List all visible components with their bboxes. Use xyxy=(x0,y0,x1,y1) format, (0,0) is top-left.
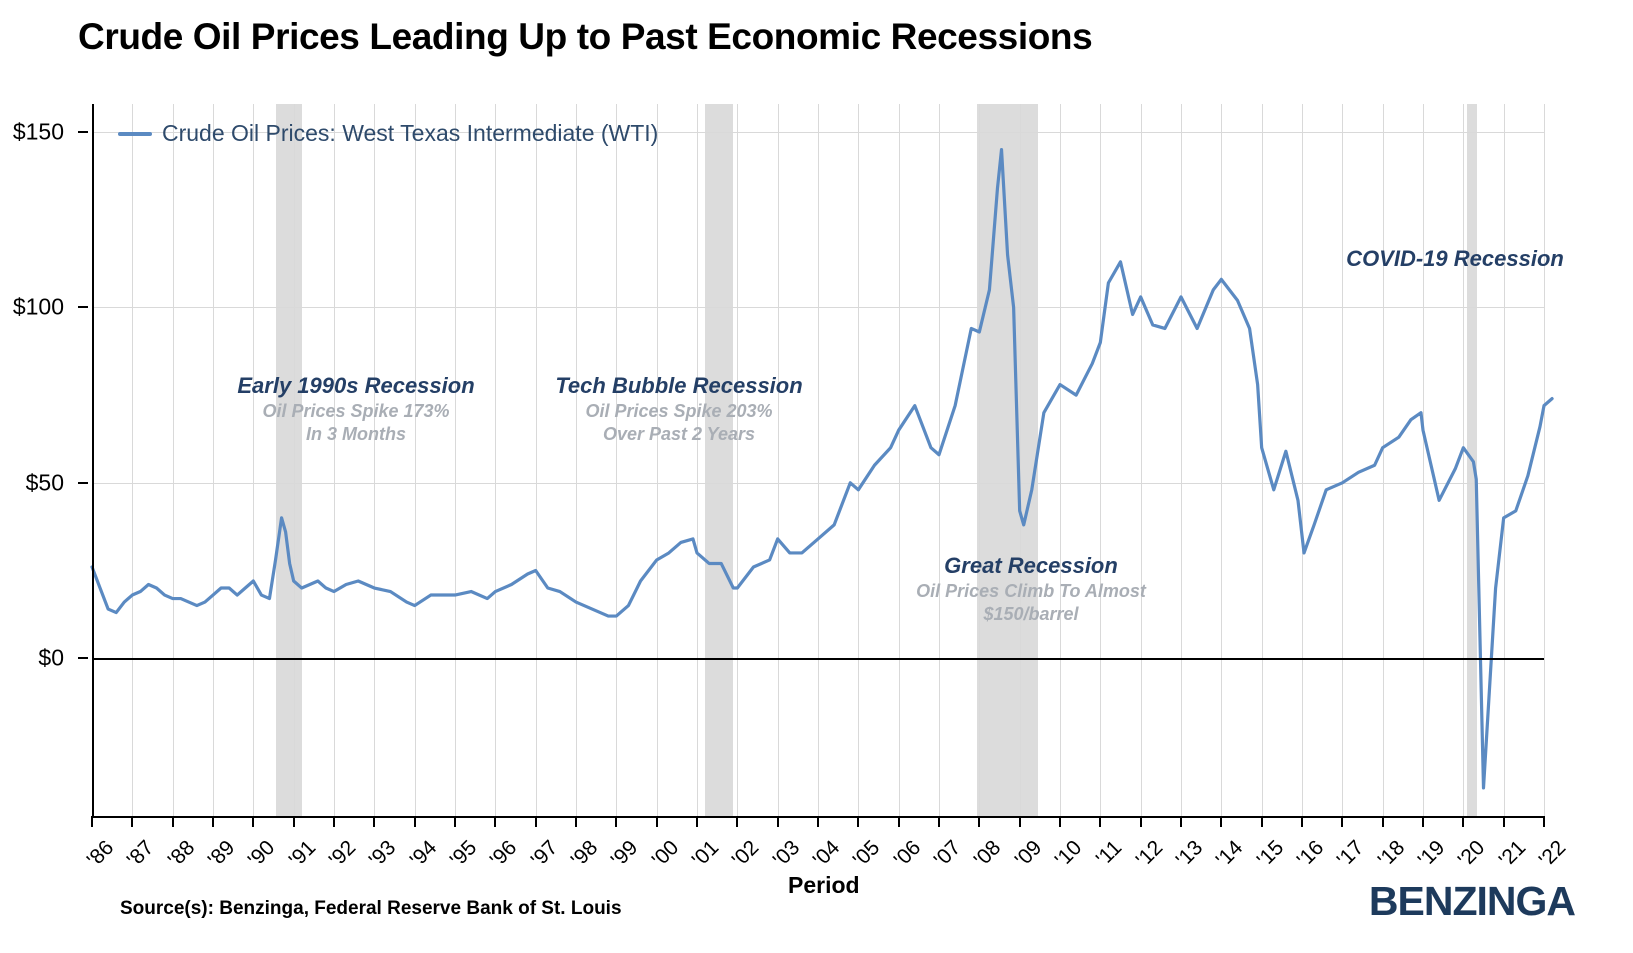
x-tick-mark xyxy=(333,816,335,827)
x-tick-label: '90 xyxy=(244,836,280,872)
y-axis-line xyxy=(92,104,94,816)
annotation-subtitle: In 3 Months xyxy=(237,423,474,446)
x-tick-mark xyxy=(1301,816,1303,827)
x-tick-mark xyxy=(373,816,375,827)
x-tick-mark xyxy=(1099,816,1101,827)
x-tick-mark xyxy=(615,816,617,827)
x-tick-label: '88 xyxy=(163,836,199,872)
x-tick-mark xyxy=(857,816,859,827)
plot-area xyxy=(92,104,1544,816)
x-tick-label: '96 xyxy=(486,836,522,872)
y-tick-mark xyxy=(78,482,88,484)
legend[interactable]: Crude Oil Prices: West Texas Intermediat… xyxy=(118,120,658,147)
x-tick-label: '20 xyxy=(1454,836,1490,872)
x-tick-label: '09 xyxy=(1010,836,1046,872)
x-tick-mark xyxy=(978,816,980,827)
y-tick-mark xyxy=(78,306,88,308)
x-axis-title: Period xyxy=(788,872,860,899)
x-tick-mark xyxy=(1341,816,1343,827)
x-tick-label: '14 xyxy=(1212,836,1248,872)
y-tick-label: $0 xyxy=(38,645,64,672)
x-tick-label: '93 xyxy=(365,836,401,872)
y-tick-label: $100 xyxy=(13,294,64,321)
x-tick-label: '10 xyxy=(1051,836,1087,872)
chart-page: Crude Oil Prices Leading Up to Past Econ… xyxy=(0,0,1633,953)
x-tick-label: '06 xyxy=(889,836,925,872)
x-tick-mark xyxy=(1261,816,1263,827)
annotation-subtitle: Over Past 2 Years xyxy=(555,423,802,446)
x-tick-mark xyxy=(696,816,698,827)
x-tick-mark xyxy=(1140,816,1142,827)
x-tick-label: '92 xyxy=(325,836,361,872)
source-note: Source(s): Benzinga, Federal Reserve Ban… xyxy=(120,898,622,920)
x-tick-label: '08 xyxy=(970,836,1006,872)
x-tick-mark xyxy=(1019,816,1021,827)
x-tick-label: '13 xyxy=(1172,836,1208,872)
x-tick-label: '22 xyxy=(1535,836,1571,872)
x-tick-mark xyxy=(454,816,456,827)
annotation-title: Early 1990s Recession xyxy=(237,372,474,400)
y-tick-label: $50 xyxy=(26,469,64,496)
x-tick-label: '98 xyxy=(567,836,603,872)
x-tick-mark xyxy=(131,816,133,827)
x-tick-mark xyxy=(494,816,496,827)
x-tick-label: '03 xyxy=(768,836,804,872)
benzinga-logo: BENZINGA xyxy=(1369,878,1575,925)
x-tick-mark xyxy=(1462,816,1464,827)
x-tick-label: '86 xyxy=(83,836,119,872)
x-tick-mark xyxy=(293,816,295,827)
x-tick-label: '89 xyxy=(204,836,240,872)
y-tick-label: $150 xyxy=(13,119,64,146)
x-tick-label: '16 xyxy=(1293,836,1329,872)
x-tick-mark xyxy=(1382,816,1384,827)
x-tick-label: '15 xyxy=(1252,836,1288,872)
x-tick-label: '95 xyxy=(446,836,482,872)
x-tick-mark xyxy=(1543,816,1545,827)
x-tick-label: '97 xyxy=(526,836,562,872)
x-tick-mark xyxy=(777,816,779,827)
x-tick-mark xyxy=(212,816,214,827)
x-tick-mark xyxy=(656,816,658,827)
annotation-tech-bubble: Tech Bubble RecessionOil Prices Spike 20… xyxy=(555,372,802,446)
x-tick-label: '21 xyxy=(1494,836,1530,872)
x-tick-label: '99 xyxy=(607,836,643,872)
x-tick-label: '91 xyxy=(284,836,320,872)
x-tick-label: '04 xyxy=(809,836,845,872)
x-tick-mark xyxy=(575,816,577,827)
annotation-subtitle: Oil Prices Climb To Almost xyxy=(916,580,1146,603)
wti-price-line xyxy=(92,104,1544,816)
gridline xyxy=(1544,104,1545,816)
x-tick-mark xyxy=(736,816,738,827)
x-tick-label: '94 xyxy=(405,836,441,872)
x-tick-label: '87 xyxy=(123,836,159,872)
legend-label: Crude Oil Prices: West Texas Intermediat… xyxy=(162,120,658,147)
x-tick-mark xyxy=(91,816,93,827)
x-tick-mark xyxy=(414,816,416,827)
x-tick-mark xyxy=(817,816,819,827)
y-axis-title: WTI Price xyxy=(0,321,6,430)
x-tick-mark xyxy=(938,816,940,827)
annotation-title: Tech Bubble Recession xyxy=(555,372,802,400)
annotation-title: COVID-19 Recession xyxy=(1346,245,1564,273)
x-tick-mark xyxy=(1059,816,1061,827)
x-tick-label: '17 xyxy=(1333,836,1369,872)
x-tick-mark xyxy=(1180,816,1182,827)
annotation-covid-19: COVID-19 Recession xyxy=(1346,245,1564,273)
x-tick-label: '12 xyxy=(1131,836,1167,872)
annotation-title: Great Recession xyxy=(916,552,1146,580)
y-axis-ticks: $150$100$50$0 xyxy=(0,104,86,816)
x-tick-mark xyxy=(898,816,900,827)
y-tick-mark xyxy=(78,657,88,659)
x-tick-mark xyxy=(252,816,254,827)
y-tick-mark xyxy=(78,131,88,133)
zero-baseline xyxy=(92,658,1544,660)
x-tick-mark xyxy=(1503,816,1505,827)
x-tick-mark xyxy=(1220,816,1222,827)
annotation-early-1990s: Early 1990s RecessionOil Prices Spike 17… xyxy=(237,372,474,446)
x-tick-label: '02 xyxy=(728,836,764,872)
annotation-subtitle: Oil Prices Spike 203% xyxy=(555,400,802,423)
x-tick-label: '19 xyxy=(1414,836,1450,872)
x-tick-mark xyxy=(535,816,537,827)
x-tick-label: '05 xyxy=(849,836,885,872)
series-line xyxy=(92,150,1552,788)
x-tick-label: '07 xyxy=(930,836,966,872)
x-tick-label: '00 xyxy=(647,836,683,872)
x-tick-mark xyxy=(1422,816,1424,827)
annotation-subtitle: $150/barrel xyxy=(916,603,1146,626)
x-axis-ticks: '86'87'88'89'90'91'92'93'94'95'96'97'98'… xyxy=(92,816,1544,836)
x-tick-mark xyxy=(172,816,174,827)
x-tick-label: '11 xyxy=(1092,836,1127,871)
annotation-great-recession: Great RecessionOil Prices Climb To Almos… xyxy=(916,552,1146,626)
legend-line-swatch xyxy=(118,132,152,136)
annotation-subtitle: Oil Prices Spike 173% xyxy=(237,400,474,423)
page-title: Crude Oil Prices Leading Up to Past Econ… xyxy=(78,16,1092,58)
x-tick-label: '01 xyxy=(688,836,724,872)
x-tick-label: '18 xyxy=(1373,836,1409,872)
